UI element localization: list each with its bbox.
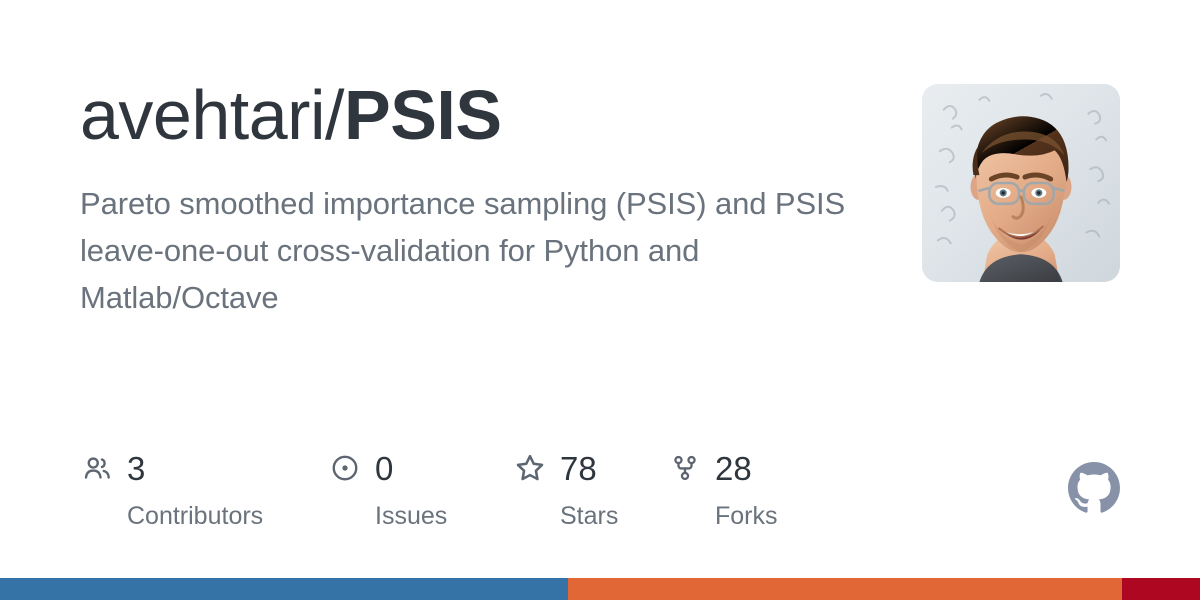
stat-issues-label: Issues: [375, 504, 447, 529]
repo-description: Pareto smoothed importance sampling (PSI…: [80, 152, 870, 321]
github-octocat-icon: [1068, 462, 1120, 514]
title-block: avehtari/PSIS Pareto smoothed importance…: [80, 78, 870, 322]
language-segment-other: [1122, 578, 1200, 600]
stat-stars[interactable]: 78 Stars: [513, 448, 668, 529]
stat-stars-value: 78: [560, 452, 597, 485]
stat-contributors-top: 3: [80, 448, 145, 488]
stat-issues-top: 0: [328, 448, 393, 488]
stat-issues[interactable]: 0 Issues: [328, 448, 513, 529]
stat-contributors[interactable]: 3 Contributors: [80, 448, 328, 529]
repo-stats: 3 Contributors 0 Issues: [80, 448, 1120, 540]
language-bar: [0, 578, 1200, 600]
stat-stars-label: Stars: [560, 504, 618, 529]
repo-separator: /: [325, 76, 344, 154]
stat-forks-value: 28: [715, 452, 752, 485]
stat-forks-top: 28: [668, 448, 752, 488]
stat-forks-label: Forks: [715, 504, 778, 529]
stat-stars-top: 78: [513, 448, 597, 488]
repo-social-preview-card: avehtari/PSIS Pareto smoothed importance…: [0, 0, 1200, 600]
language-segment-matlab: [568, 578, 1122, 600]
stat-contributors-label: Contributors: [127, 504, 263, 529]
stat-issues-value: 0: [375, 452, 393, 485]
repo-forked-icon: [668, 451, 702, 485]
repo-name[interactable]: PSIS: [344, 76, 502, 154]
people-icon: [80, 451, 114, 485]
stat-contributors-value: 3: [127, 452, 145, 485]
language-segment-python: [0, 578, 568, 600]
stat-forks[interactable]: 28 Forks: [668, 448, 823, 529]
avatar: [922, 84, 1120, 282]
issue-opened-icon: [328, 451, 362, 485]
card-header: avehtari/PSIS Pareto smoothed importance…: [80, 78, 1120, 322]
star-icon: [513, 451, 547, 485]
page-title: avehtari/PSIS: [80, 78, 870, 152]
repo-owner[interactable]: avehtari: [80, 76, 325, 154]
